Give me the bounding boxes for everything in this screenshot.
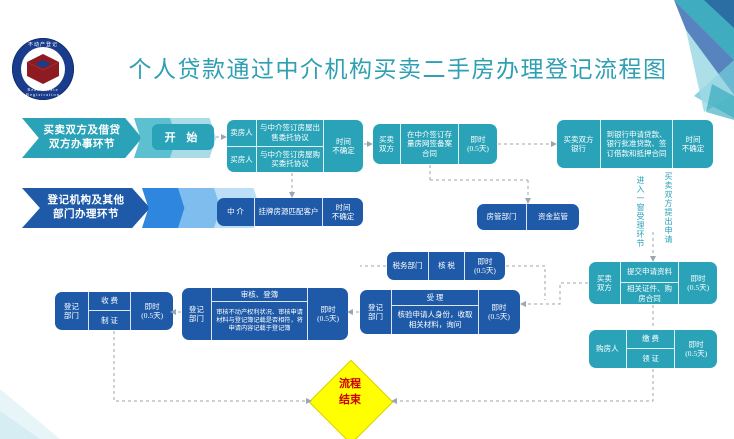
node-entrust-seller-task: 与中介签订房屋出售委托协议: [257, 120, 323, 146]
node-entrust-agreement[interactable]: 卖房人 与中介签订房屋出售委托协议 买房人 与中介签订房屋购买委托协议 时间 不…: [227, 120, 363, 172]
node-tax-time: 即时 (0.5天): [465, 252, 505, 280]
node-acceptance-task-title: 受 理: [392, 290, 478, 306]
node-netsign-time: 即时 (0.5天): [459, 124, 497, 164]
node-entrust-buyer-actor: 买房人: [227, 147, 257, 173]
node-submit-time: 即时 (0.5天): [679, 262, 717, 304]
logo-cube-icon: [25, 52, 61, 86]
node-agency-listing[interactable]: 中 介 挂牌房源匹配客户 时间 不确定: [217, 198, 363, 226]
node-review-time: 即时 (0.5天): [308, 288, 348, 340]
banner-parties-chevron-1: 买卖双方及借贷双方办事环节: [22, 118, 142, 158]
node-tax-actor: 税务部门: [387, 252, 429, 280]
node-buyer-task-bottom: 领 证: [627, 349, 675, 368]
node-bank-task: 到银行申请贷款、银行批准贷款、签订借款和抵押合同: [601, 120, 673, 168]
node-fee-time: 即时 (0.5天): [131, 292, 173, 330]
node-buyer-task-top: 缴 费: [627, 330, 675, 349]
wire-fee-to-end: [114, 331, 311, 401]
node-review-task-detail: 审核不动产权利状况、审核申请材料与登记簿记载是否相符，将申请内容记载于登记簿: [212, 302, 307, 339]
flowchart-canvas: 不动产登记 Real Estate Registration 个人贷款通过中介机…: [0, 0, 734, 439]
node-buyer-pay-collect[interactable]: 购房人 缴 费 领 证 即时 (0.5天): [589, 330, 717, 368]
node-acceptance-actor: 登记 部门: [360, 290, 392, 334]
node-entrust-seller-actor: 卖房人: [227, 120, 257, 146]
node-bank-actor: 买卖双方 银行: [557, 120, 601, 168]
corner-decoration-bottom-left: [0, 349, 120, 439]
node-housing-admin-actor: 房管部门: [477, 204, 527, 230]
node-submit-actor: 买卖 双方: [589, 262, 621, 304]
banner-parties-label: 买卖双方及借贷双方办事环节: [44, 124, 121, 152]
node-submit-task-detail: 相关证件、购房合同: [621, 283, 679, 304]
node-bank-time: 时间 不确定: [673, 120, 713, 168]
node-review-register[interactable]: 登记 部门 审核、登簿 审核不动产权利状况、审核申请材料与登记簿记载是否相符，将…: [182, 288, 348, 340]
node-acceptance-time: 即时 (0.5天): [479, 290, 519, 334]
node-housing-admin-task: 资金监管: [527, 204, 579, 230]
node-fee-task-top: 收 费: [89, 292, 131, 311]
node-review-actor: 登记 部门: [182, 288, 212, 340]
node-agency-task: 挂牌房源匹配客户: [255, 198, 323, 226]
node-fee-certificate[interactable]: 登记 部门 收 费 制 证 即时 (0.5天): [55, 292, 173, 330]
page-title: 个人贷款通过中介机构买卖二手房办理登记流程图: [128, 50, 668, 84]
node-entrust-time: 时间 不确定: [323, 120, 363, 172]
node-fee-task-bottom: 制 证: [89, 311, 131, 330]
banner-agencies-label: 登记机构及其他部门办理环节: [48, 194, 125, 222]
logo: 不动产登记 Real Estate Registration: [12, 38, 74, 100]
node-agency-actor: 中 介: [217, 198, 255, 226]
node-network-signing[interactable]: 买卖 双方 在中介签订存量房网签备案合同 即时 (0.5天): [373, 124, 497, 164]
node-acceptance-task-detail: 核验申请人身份，收取相关材料，询问: [392, 306, 478, 333]
node-review-task-title: 审核、登簿: [212, 288, 307, 302]
wire-submit-to-acceptance: [521, 283, 588, 304]
node-tax-assessment[interactable]: 税务部门 核 税 即时 (0.5天): [387, 252, 505, 280]
node-housing-admin-fund-supervision[interactable]: 房管部门 资金监管: [477, 204, 579, 230]
node-agency-time: 时间 不确定: [323, 198, 363, 226]
note-parties-apply: 买卖双方提出申请: [663, 172, 674, 244]
node-entrust-buyer-task: 与中介签订房屋购买委托协议: [257, 147, 323, 173]
end-node-label: 流程结束: [310, 376, 390, 408]
node-bank-loan[interactable]: 买卖双方 银行 到银行申请贷款、银行批准贷款、签订借款和抵押合同 时间 不确定: [557, 120, 713, 168]
node-fee-actor: 登记 部门: [55, 292, 89, 330]
wire-buyer-to-end: [392, 369, 653, 401]
node-buyer-actor: 购房人: [589, 330, 627, 368]
node-tax-task: 核 税: [429, 252, 465, 280]
node-netsign-task: 在中介签订存量房网签备案合同: [401, 124, 459, 164]
node-submit-task-title: 提交申请资料: [621, 262, 679, 283]
node-acceptance[interactable]: 登记 部门 受 理 核验申请人身份，收取相关材料，询问 即时 (0.5天): [360, 290, 520, 334]
node-netsign-actor: 买卖 双方: [373, 124, 401, 164]
banner-agencies-chevron-1: 登记机构及其他部门办理环节: [22, 188, 150, 228]
logo-text-bottom: Real Estate Registration: [12, 87, 74, 97]
start-node[interactable]: 开 始: [152, 124, 214, 150]
note-enter-window: 进入一窗受理环节: [635, 176, 646, 248]
node-submit-application[interactable]: 买卖 双方 提交申请资料 相关证件、购房合同 即时 (0.5天): [589, 262, 717, 304]
node-buyer-time: 即时 (0.5天): [675, 330, 717, 368]
